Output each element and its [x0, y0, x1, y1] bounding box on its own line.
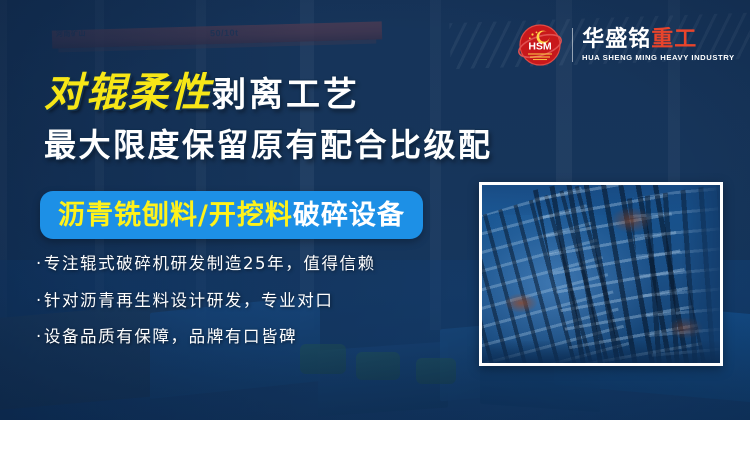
- list-item: ·专注辊式破碎机研发制造25年，值得信赖: [36, 256, 476, 273]
- headline-line-2: 最大限度保留原有配合比级配: [44, 120, 514, 166]
- headline-block: 对辊柔性剥离工艺 最大限度保留原有配合比级配: [44, 72, 514, 166]
- rust-patch: [504, 293, 538, 313]
- feature-bullet-list: ·专注辊式破碎机研发制造25年，值得信赖 ·针对沥青再生料设计研发，专业对口 ·…: [36, 256, 476, 366]
- logo-divider: [572, 28, 573, 62]
- bullet-text: 针对沥青再生料设计研发，专业对口: [44, 291, 334, 310]
- bullet-marker-icon: ·: [36, 254, 43, 273]
- logo-name-cn: 华盛铭: [582, 27, 651, 52]
- rust-patch: [610, 207, 652, 233]
- headline-rest-text: 剥离工艺: [212, 75, 360, 115]
- logo-name-en: HUA SHENG MING HEAVY INDUSTRY: [582, 54, 735, 62]
- pill-text-plain: 破碎设备: [293, 200, 405, 231]
- bullet-marker-icon: ·: [36, 291, 43, 310]
- pill-text-highlight: 沥青铣刨料/开挖料: [58, 200, 293, 231]
- bullet-text: 设备品质有保障，品牌有口皆碑: [44, 327, 297, 346]
- product-photo-frame[interactable]: [479, 182, 723, 366]
- headline-line-1: 对辊柔性剥离工艺: [44, 72, 514, 114]
- promo-banner: 河南矿山 50/10t HSM: [0, 0, 750, 420]
- photo-shade-right: [682, 185, 720, 363]
- headline-accent-text: 对辊柔性: [44, 70, 212, 116]
- svg-text:HSM: HSM: [529, 41, 553, 53]
- page-whitespace: [0, 420, 750, 451]
- logo-name-cn-accent: 重工: [651, 27, 697, 52]
- logo-wordmark: 华盛铭重工 HUA SHENG MING HEAVY INDUSTRY: [582, 29, 732, 62]
- bullet-marker-icon: ·: [36, 327, 43, 346]
- bullet-text: 专注辊式破碎机研发制造25年，值得信赖: [44, 254, 376, 273]
- list-item: ·设备品质有保障，品牌有口皆碑: [36, 329, 476, 346]
- pill-text: 沥青铣刨料/开挖料破碎设备: [58, 202, 405, 229]
- photo-shade-bottom: [482, 341, 720, 363]
- company-logo[interactable]: HSM 华盛铭重工 HUA SHENG MING HEAVY INDUSTRY: [517, 22, 732, 68]
- crusher-roller-photo: [482, 185, 720, 363]
- list-item: ·针对沥青再生料设计研发，专业对口: [36, 293, 476, 310]
- hsm-badge-icon: HSM: [517, 22, 563, 68]
- product-category-pill[interactable]: 沥青铣刨料/开挖料破碎设备: [40, 191, 423, 239]
